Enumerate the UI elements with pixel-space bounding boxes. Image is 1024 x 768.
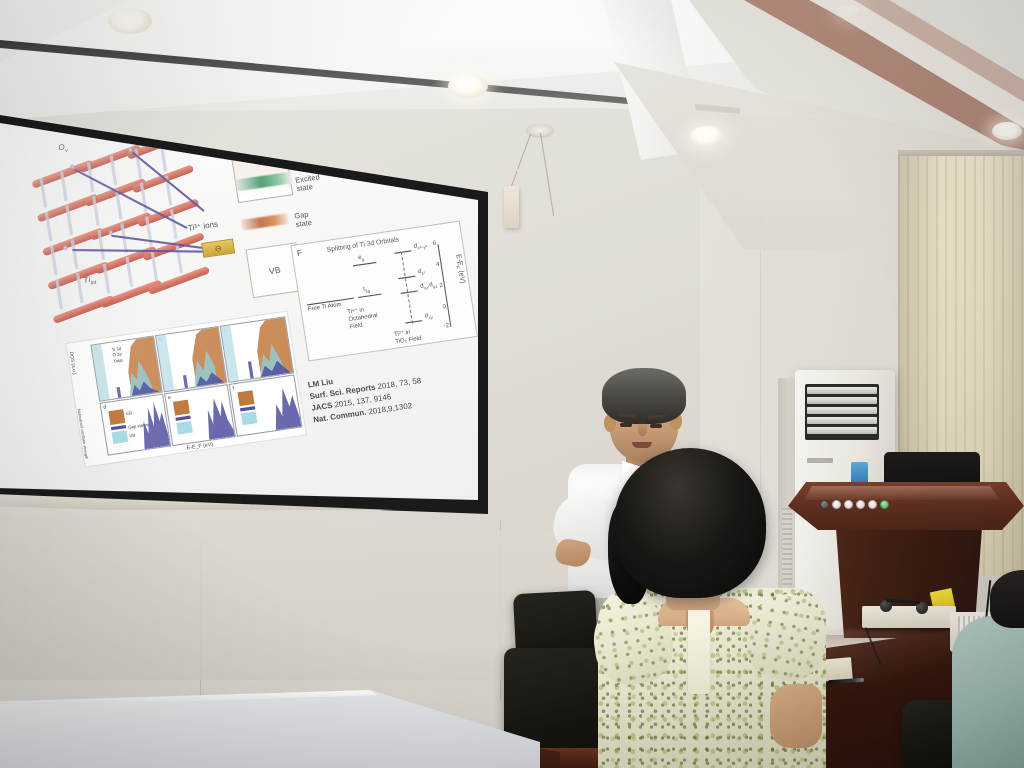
dos-panel-b: b <box>155 326 227 392</box>
downlight-5 <box>836 4 862 19</box>
dx2y2-label: dx²−y² <box>413 242 427 251</box>
pf-ytick-0: 6 <box>432 240 436 247</box>
excited-state-band <box>236 172 293 192</box>
dos-panel-a: a Ti 3d O 2p Total <box>90 335 162 401</box>
dos-panel-d-tag: d <box>103 404 107 411</box>
downlight-1 <box>108 8 152 34</box>
panel-f-y-axis-label: E-EF (eV) <box>453 254 466 285</box>
slide-references: LM Liu Surf. Sci. Reports 2018, 73, 58 J… <box>307 363 426 426</box>
dos-legend-top-a: Ti 3d O 2p Total <box>111 346 123 364</box>
dos-panel-d: d CB Gap states VB <box>99 394 171 456</box>
ac-grille <box>805 384 879 440</box>
dos-legend-vb-d: VB <box>129 432 136 439</box>
dxy-label: dxy <box>424 312 433 321</box>
t2g-label: t2g <box>363 286 371 294</box>
presenter-eye-right <box>650 424 662 428</box>
downlight-4 <box>992 122 1022 140</box>
front-attendee-person <box>602 448 817 768</box>
lectern-button-3[interactable] <box>844 500 853 509</box>
panel-f-title: Splitting of Ti 3d Orbitals <box>326 236 399 254</box>
attendee-hair <box>614 448 766 598</box>
projector <box>862 606 956 628</box>
presenter-eye-left <box>620 423 632 427</box>
octahedral-field-label: Ti⁴⁺ in Octahedral Field <box>347 305 379 331</box>
panel-f-tag: F <box>296 248 303 258</box>
eg-label: eg <box>358 254 365 262</box>
dos-panel-f-tag: f <box>232 385 234 392</box>
ti3-ions-label: Ti³⁺ ions <box>187 219 218 233</box>
gap-state-label: Gap state <box>294 211 313 230</box>
pf-ytick-4: -2 <box>443 323 449 330</box>
lectern-button-1[interactable] <box>820 500 829 509</box>
presentation-room-photo: Sources of Band-Gap States of TiO2 Ov Ob… <box>0 0 1024 768</box>
dos-ylabel-bottom: Normalized oscillator strength <box>77 409 89 460</box>
excited-state-label: Excited state <box>295 174 322 195</box>
downlight-3 <box>690 126 724 146</box>
cable-bundle <box>504 186 519 228</box>
tio2-field-label: Ti³⁺ in TiO₂ Field <box>394 328 422 347</box>
presenter-hair <box>602 368 686 424</box>
ti3-ion-box: ⊖ <box>201 238 235 257</box>
dos-panel-e-tag: e <box>168 395 172 402</box>
dxz-dyz-label: dxz,dyz <box>420 281 438 291</box>
gap-state-band <box>241 213 289 230</box>
lectern-button-6[interactable] <box>880 500 889 509</box>
lectern-control-buttons[interactable] <box>820 500 889 509</box>
lattice-label-ov: Ov <box>58 142 69 155</box>
right-attendee-shirt <box>952 616 1024 768</box>
dos-panel-e: e <box>164 384 236 446</box>
orbital-splitting-panel: F Splitting of Ti 3d Orbitals Free Ti At… <box>290 221 478 362</box>
dos-panel-f: f <box>229 374 303 436</box>
dos-ylabel-top: DOS (a.u.) <box>69 351 78 375</box>
tio2-crystal-lattice-diagram: Ov ObH Tiint <box>24 125 238 337</box>
right-attendee-person <box>952 598 1024 768</box>
lectern-button-5[interactable] <box>868 500 877 509</box>
dos-absorption-figure: DOS (a.u.) Normalized oscillator strengt… <box>65 311 307 468</box>
presenter-nose <box>638 420 647 436</box>
lectern-button-4[interactable] <box>856 500 865 509</box>
attendee-arm <box>770 684 822 748</box>
dz2-label: dz² <box>417 268 425 277</box>
dos-panel-c: c <box>220 316 295 383</box>
electron-glyph: ⊖ <box>202 240 234 259</box>
downlight-2 <box>448 74 488 98</box>
lectern-button-2[interactable] <box>832 500 841 509</box>
attendee-dress-sash <box>688 598 710 694</box>
dos-legend-cb-d: CB <box>126 410 133 417</box>
